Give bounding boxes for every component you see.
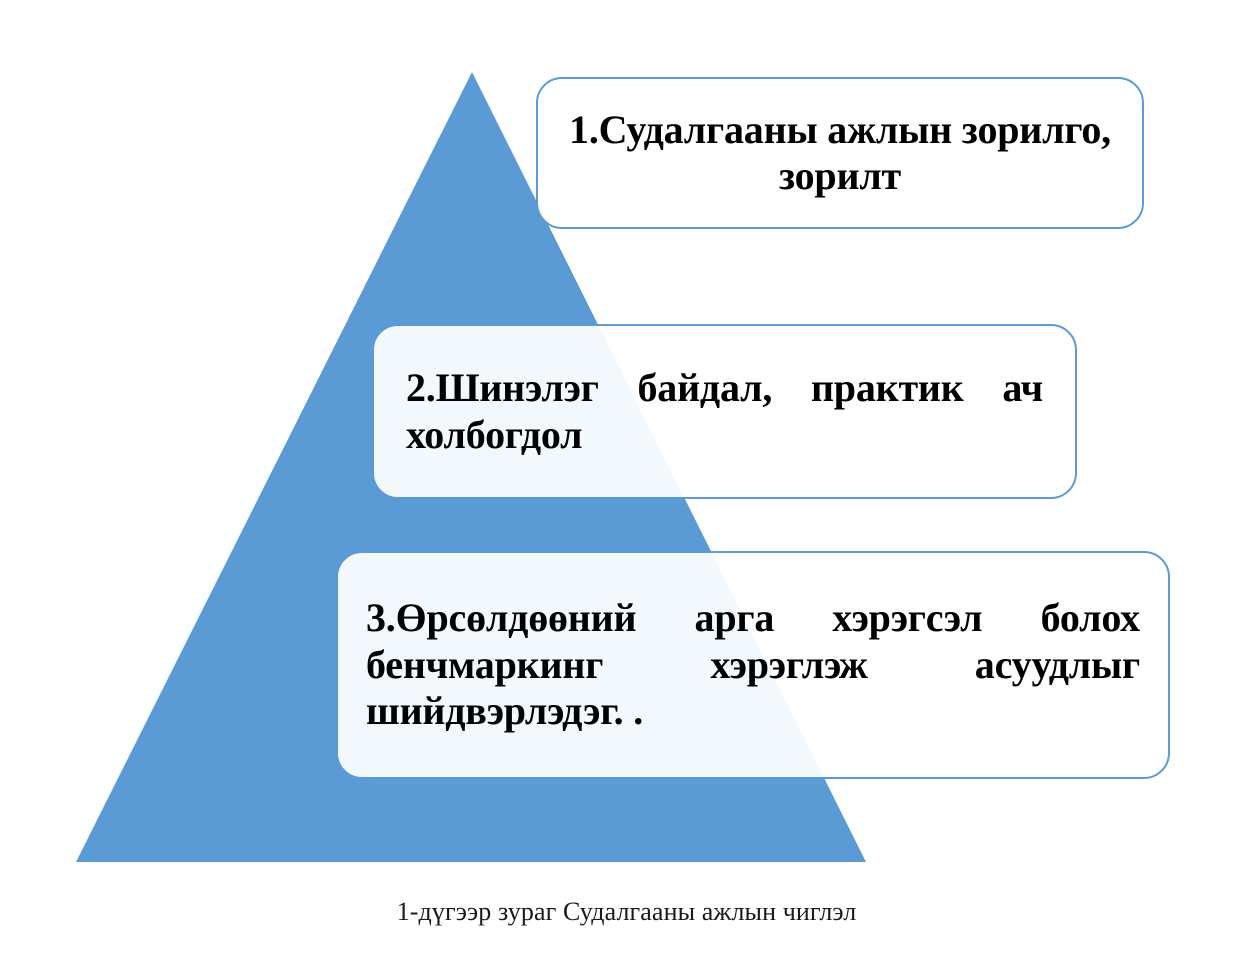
callout-box-1[interactable]: 1.Судалгааны ажлын зорилго, зорилт — [536, 77, 1144, 229]
callout-box-2[interactable]: 2.Шинэлэг байдал, практик ач холбогдол — [372, 324, 1077, 499]
callout-box-3[interactable]: 3.Өрсөлдөөний арга хэрэгсэл болох бенчма… — [336, 551, 1170, 779]
callout-3-text: 3.Өрсөлдөөний арга хэрэгсэл болох бенчма… — [338, 595, 1168, 734]
callout-1-text: 1.Судалгааны ажлын зорилго, зорилт — [538, 107, 1142, 200]
figure-canvas: 1.Судалгааны ажлын зорилго, зорилт 2.Шин… — [0, 0, 1253, 967]
figure-caption: 1-дүгээр зураг Судалгааны ажлын чиглэл — [0, 897, 1253, 927]
callout-2-text: 2.Шинэлэг байдал, практик ач холбогдол — [374, 365, 1075, 458]
